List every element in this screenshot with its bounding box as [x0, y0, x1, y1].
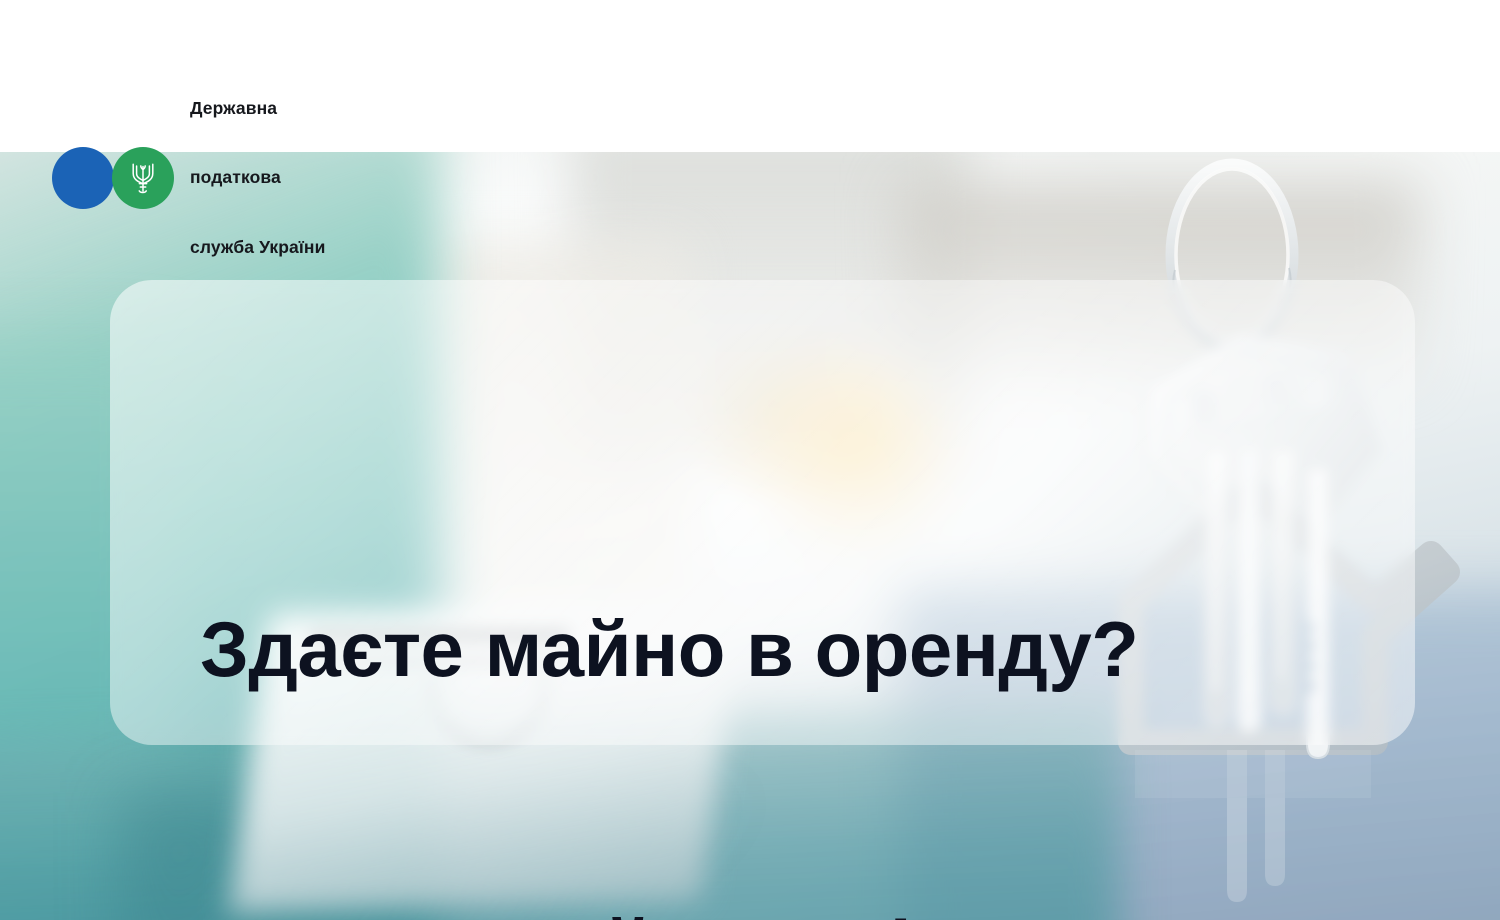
tax-service-logo[interactable]: Державна податкова служба України: [52, 50, 325, 306]
poster-canvas: Державна податкова служба України: [0, 0, 1500, 920]
trident-icon: [112, 147, 174, 209]
blue-circle-icon: [52, 147, 114, 209]
logo-line-1: Державна: [190, 97, 325, 120]
logo-line-2: податкова: [190, 166, 325, 189]
logo-marks: [52, 147, 174, 209]
logo-line-3: служба України: [190, 236, 325, 259]
page-title: Здаєте майно в оренду? Задекларуйте дохі…: [200, 400, 1400, 920]
headline-line-2: Задекларуйте дохід: [200, 899, 1400, 920]
headline-line-1: Здаєте майно в оренду?: [200, 600, 1400, 700]
logo-wordmark: Державна податкова служба України: [190, 50, 325, 306]
site-header: Державна податкова служба України: [0, 0, 1500, 152]
